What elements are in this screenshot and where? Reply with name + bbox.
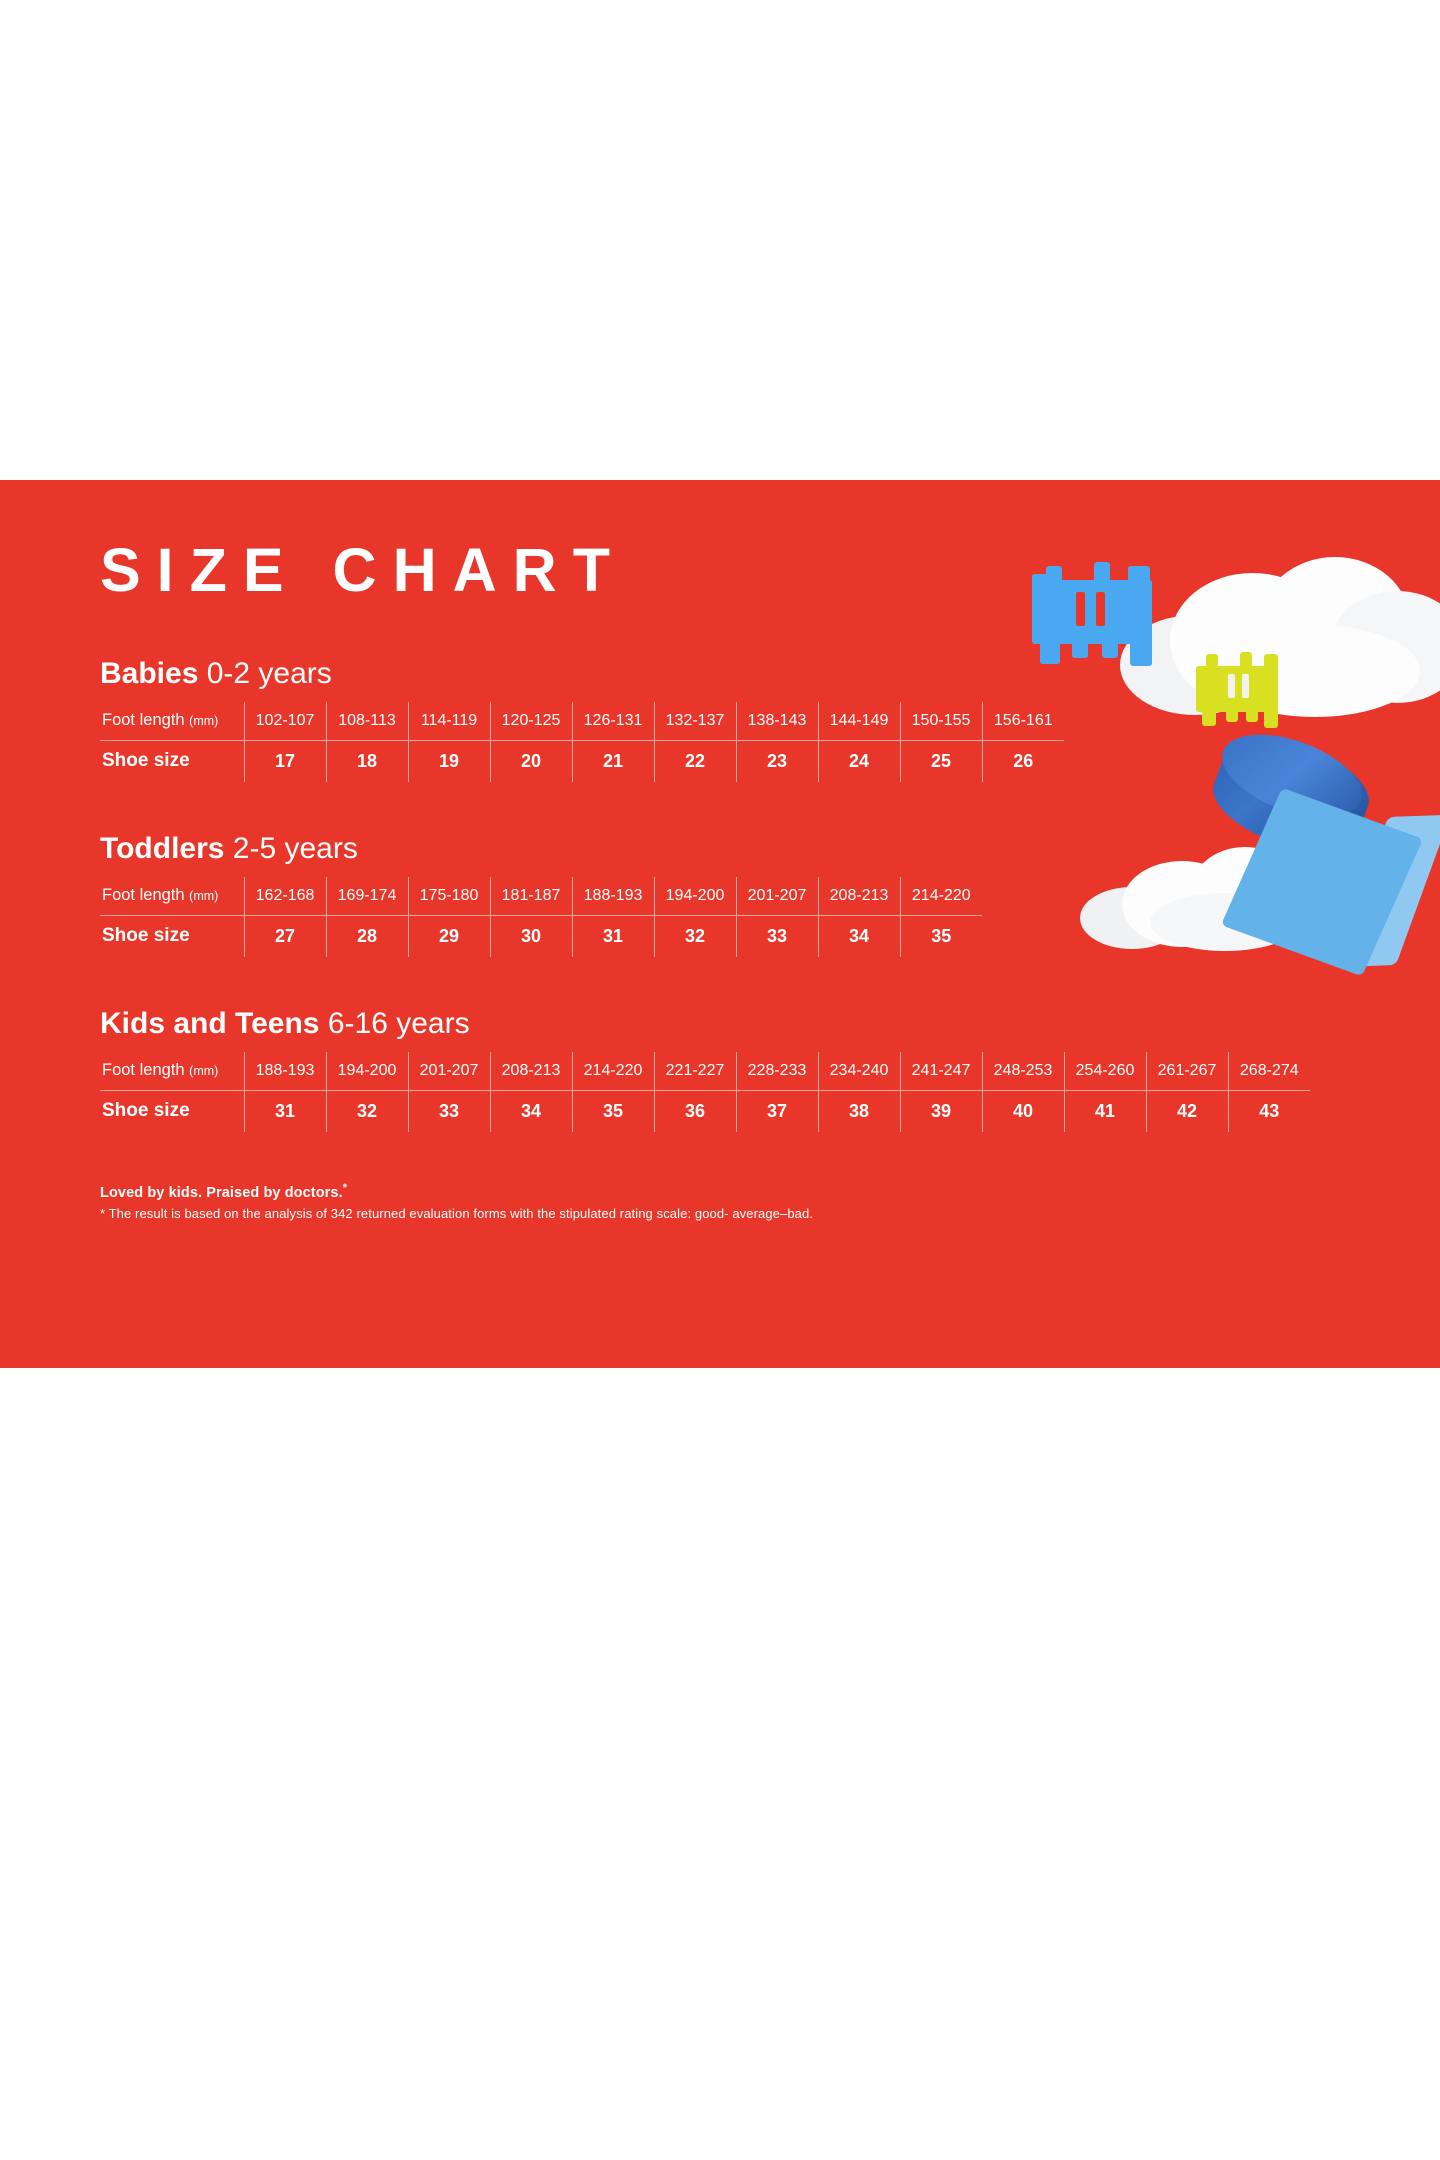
row-label-text: Foot length — [102, 711, 185, 729]
table-row-shoe-size: Shoe size 31 32 33 34 35 36 37 38 39 40 … — [100, 1090, 1310, 1132]
footer-disclaimer: * The result is based on the analysis of… — [100, 1206, 1330, 1221]
section-title-kids-and-teens: Kids and Teens — [100, 1007, 320, 1040]
cell-foot-length: 188-193 — [244, 1052, 326, 1090]
cell-foot-length: 234-240 — [818, 1052, 900, 1090]
cell-foot-length: 254-260 — [1064, 1052, 1146, 1090]
page-title: SIZE CHART — [100, 540, 1330, 601]
cell-shoe-size: 20 — [490, 740, 572, 782]
cell-shoe-size: 26 — [982, 740, 1064, 782]
section-title-babies: Babies — [100, 657, 198, 690]
row-label-foot-length: Foot length (mm) — [100, 702, 244, 740]
cell-foot-length: 208-213 — [818, 877, 900, 915]
cell-shoe-size: 31 — [244, 1090, 326, 1132]
cell-foot-length: 138-143 — [736, 702, 818, 740]
section-age-babies: 0-2 years — [207, 657, 332, 690]
cell-shoe-size: 21 — [572, 740, 654, 782]
cell-foot-length: 201-207 — [736, 877, 818, 915]
table-row-foot-length: Foot length (mm) 102-107 108-113 114-119… — [100, 702, 1064, 740]
cell-shoe-size: 28 — [326, 915, 408, 957]
row-label-unit: (mm) — [189, 1064, 218, 1078]
section-title-toddlers: Toddlers — [100, 832, 224, 865]
row-label-unit: (mm) — [189, 714, 218, 728]
cell-foot-length: 150-155 — [900, 702, 982, 740]
cell-foot-length: 208-213 — [490, 1052, 572, 1090]
cell-shoe-size: 43 — [1228, 1090, 1310, 1132]
section-heading-toddlers: Toddlers 2-5 years — [100, 832, 1330, 865]
cell-foot-length: 114-119 — [408, 702, 490, 740]
cell-foot-length: 108-113 — [326, 702, 408, 740]
row-label-foot-length: Foot length (mm) — [100, 1052, 244, 1090]
size-chart-page: SIZE CHART Babies 0-2 years Foot length … — [0, 0, 1440, 2160]
red-panel: SIZE CHART Babies 0-2 years Foot length … — [0, 480, 1440, 1368]
section-heading-babies: Babies 0-2 years — [100, 657, 1330, 690]
footer-tagline: Loved by kids. Praised by doctors.* — [100, 1182, 1330, 1201]
cell-foot-length: 102-107 — [244, 702, 326, 740]
cell-foot-length: 144-149 — [818, 702, 900, 740]
cell-shoe-size: 18 — [326, 740, 408, 782]
chart-content: SIZE CHART Babies 0-2 years Foot length … — [100, 540, 1330, 1221]
table-row-shoe-size: Shoe size 27 28 29 30 31 32 33 34 35 — [100, 915, 982, 957]
cell-foot-length: 268-274 — [1228, 1052, 1310, 1090]
cell-foot-length: 221-227 — [654, 1052, 736, 1090]
cell-foot-length: 248-253 — [982, 1052, 1064, 1090]
cell-foot-length: 201-207 — [408, 1052, 490, 1090]
cell-foot-length: 188-193 — [572, 877, 654, 915]
cell-shoe-size: 27 — [244, 915, 326, 957]
section-age-toddlers: 2-5 years — [233, 832, 358, 865]
cell-foot-length: 194-200 — [326, 1052, 408, 1090]
cell-shoe-size: 17 — [244, 740, 326, 782]
cell-foot-length: 126-131 — [572, 702, 654, 740]
cell-shoe-size: 34 — [818, 915, 900, 957]
row-label-foot-length: Foot length (mm) — [100, 877, 244, 915]
row-label-shoe-size: Shoe size — [100, 915, 244, 957]
row-label-unit: (mm) — [189, 889, 218, 903]
row-label-shoe-size: Shoe size — [100, 740, 244, 782]
cell-shoe-size: 30 — [490, 915, 572, 957]
cell-foot-length: 162-168 — [244, 877, 326, 915]
cell-foot-length: 194-200 — [654, 877, 736, 915]
cell-foot-length: 156-161 — [982, 702, 1064, 740]
cell-shoe-size: 25 — [900, 740, 982, 782]
cell-shoe-size: 32 — [326, 1090, 408, 1132]
brick-body-side — [1333, 815, 1440, 968]
cell-shoe-size: 29 — [408, 915, 490, 957]
cell-foot-length: 241-247 — [900, 1052, 982, 1090]
cell-shoe-size: 41 — [1064, 1090, 1146, 1132]
size-table-toddlers: Foot length (mm) 162-168 169-174 175-180… — [100, 877, 982, 957]
cell-foot-length: 214-220 — [900, 877, 982, 915]
cell-shoe-size: 35 — [572, 1090, 654, 1132]
table-row-shoe-size: Shoe size 17 18 19 20 21 22 23 24 25 26 — [100, 740, 1064, 782]
cell-foot-length: 169-174 — [326, 877, 408, 915]
cell-shoe-size: 40 — [982, 1090, 1064, 1132]
cell-shoe-size: 24 — [818, 740, 900, 782]
row-label-text: Foot length — [102, 886, 185, 904]
cell-shoe-size: 34 — [490, 1090, 572, 1132]
cell-shoe-size: 35 — [900, 915, 982, 957]
cell-shoe-size: 19 — [408, 740, 490, 782]
footer-tagline-text: Loved by kids. Praised by doctors. — [100, 1185, 343, 1201]
cell-foot-length: 214-220 — [572, 1052, 654, 1090]
footer-tagline-marker: * — [343, 1182, 347, 1194]
row-label-text: Foot length — [102, 1061, 185, 1079]
cell-shoe-size: 33 — [736, 915, 818, 957]
table-row-foot-length: Foot length (mm) 162-168 169-174 175-180… — [100, 877, 982, 915]
footer: Loved by kids. Praised by doctors.* * Th… — [100, 1182, 1330, 1221]
row-label-shoe-size: Shoe size — [100, 1090, 244, 1132]
section-heading-kids-and-teens: Kids and Teens 6-16 years — [100, 1007, 1330, 1040]
section-babies: Babies 0-2 years Foot length (mm) 102-10… — [100, 657, 1330, 782]
cell-shoe-size: 38 — [818, 1090, 900, 1132]
cell-shoe-size: 39 — [900, 1090, 982, 1132]
section-toddlers: Toddlers 2-5 years Foot length (mm) 162-… — [100, 832, 1330, 957]
cell-shoe-size: 32 — [654, 915, 736, 957]
size-table-babies: Foot length (mm) 102-107 108-113 114-119… — [100, 702, 1064, 782]
cell-shoe-size: 31 — [572, 915, 654, 957]
cell-shoe-size: 23 — [736, 740, 818, 782]
table-row-foot-length: Foot length (mm) 188-193 194-200 201-207… — [100, 1052, 1310, 1090]
cell-shoe-size: 37 — [736, 1090, 818, 1132]
cell-foot-length: 228-233 — [736, 1052, 818, 1090]
cell-foot-length: 132-137 — [654, 702, 736, 740]
cell-shoe-size: 36 — [654, 1090, 736, 1132]
cell-foot-length: 120-125 — [490, 702, 572, 740]
cell-shoe-size: 22 — [654, 740, 736, 782]
section-kids-and-teens: Kids and Teens 6-16 years Foot length (m… — [100, 1007, 1330, 1132]
cell-shoe-size: 33 — [408, 1090, 490, 1132]
section-age-kids-and-teens: 6-16 years — [328, 1007, 470, 1040]
cell-foot-length: 175-180 — [408, 877, 490, 915]
size-table-kids-and-teens: Foot length (mm) 188-193 194-200 201-207… — [100, 1052, 1310, 1132]
cell-foot-length: 261-267 — [1146, 1052, 1228, 1090]
cell-shoe-size: 42 — [1146, 1090, 1228, 1132]
cell-foot-length: 181-187 — [490, 877, 572, 915]
